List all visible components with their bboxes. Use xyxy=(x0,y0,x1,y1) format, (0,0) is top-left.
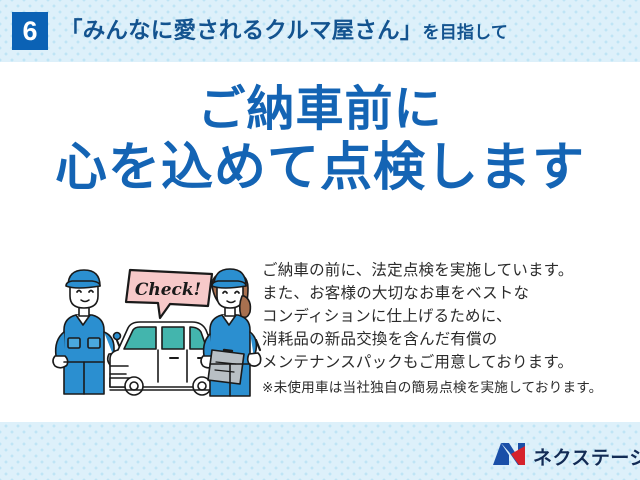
body-line: メンテナンスパックもご用意しております。 xyxy=(262,351,632,374)
body-copy: ご納車の前に、法定点検を実施しています。 また、お客様の大切なお車をベストな コ… xyxy=(262,259,632,399)
nextage-wordmark: ネクステージ xyxy=(533,443,640,470)
body-line: 消耗品の新品交換を含んだ有償の xyxy=(262,328,632,351)
header-title-main: 「みんなに愛されるクルマ屋さん」 xyxy=(60,20,423,43)
body-line: コンディションに仕上げるために、 xyxy=(262,305,632,328)
page-title-line1: ご納車前に xyxy=(0,84,640,136)
nextage-n-icon xyxy=(492,441,526,472)
page-title: ご納車前に 心を込めて点検します xyxy=(0,84,640,196)
body-line: ご納車の前に、法定点検を実施しています。 xyxy=(262,259,632,282)
body-footnote: ※未使用車は当社独自の簡易点検を実施しております。 xyxy=(262,376,632,399)
mechanics-illustration: Check! xyxy=(52,262,262,407)
body-line: また、お客様の大切なお車をベストな xyxy=(262,282,632,305)
page-header: 6 「みんなに愛されるクルマ屋さん」を目指して xyxy=(0,0,640,62)
header-title: 「みんなに愛されるクルマ屋さん」を目指して xyxy=(60,20,508,43)
page-title-line2: 心を込めて点検します xyxy=(0,140,640,196)
check-bubble-label: Check! xyxy=(135,280,201,300)
section-number-badge: 6 xyxy=(12,12,48,50)
nextage-logo: ネクステージ xyxy=(492,440,640,472)
content-panel: ご納車前に 心を込めて点検します ご納車の前に、法定点検を実施しています。 また… xyxy=(0,62,640,422)
page-root: 6 「みんなに愛されるクルマ屋さん」を目指して ご納車前に 心を込めて点検します… xyxy=(0,0,640,480)
header-title-sub: を目指して xyxy=(423,24,509,41)
